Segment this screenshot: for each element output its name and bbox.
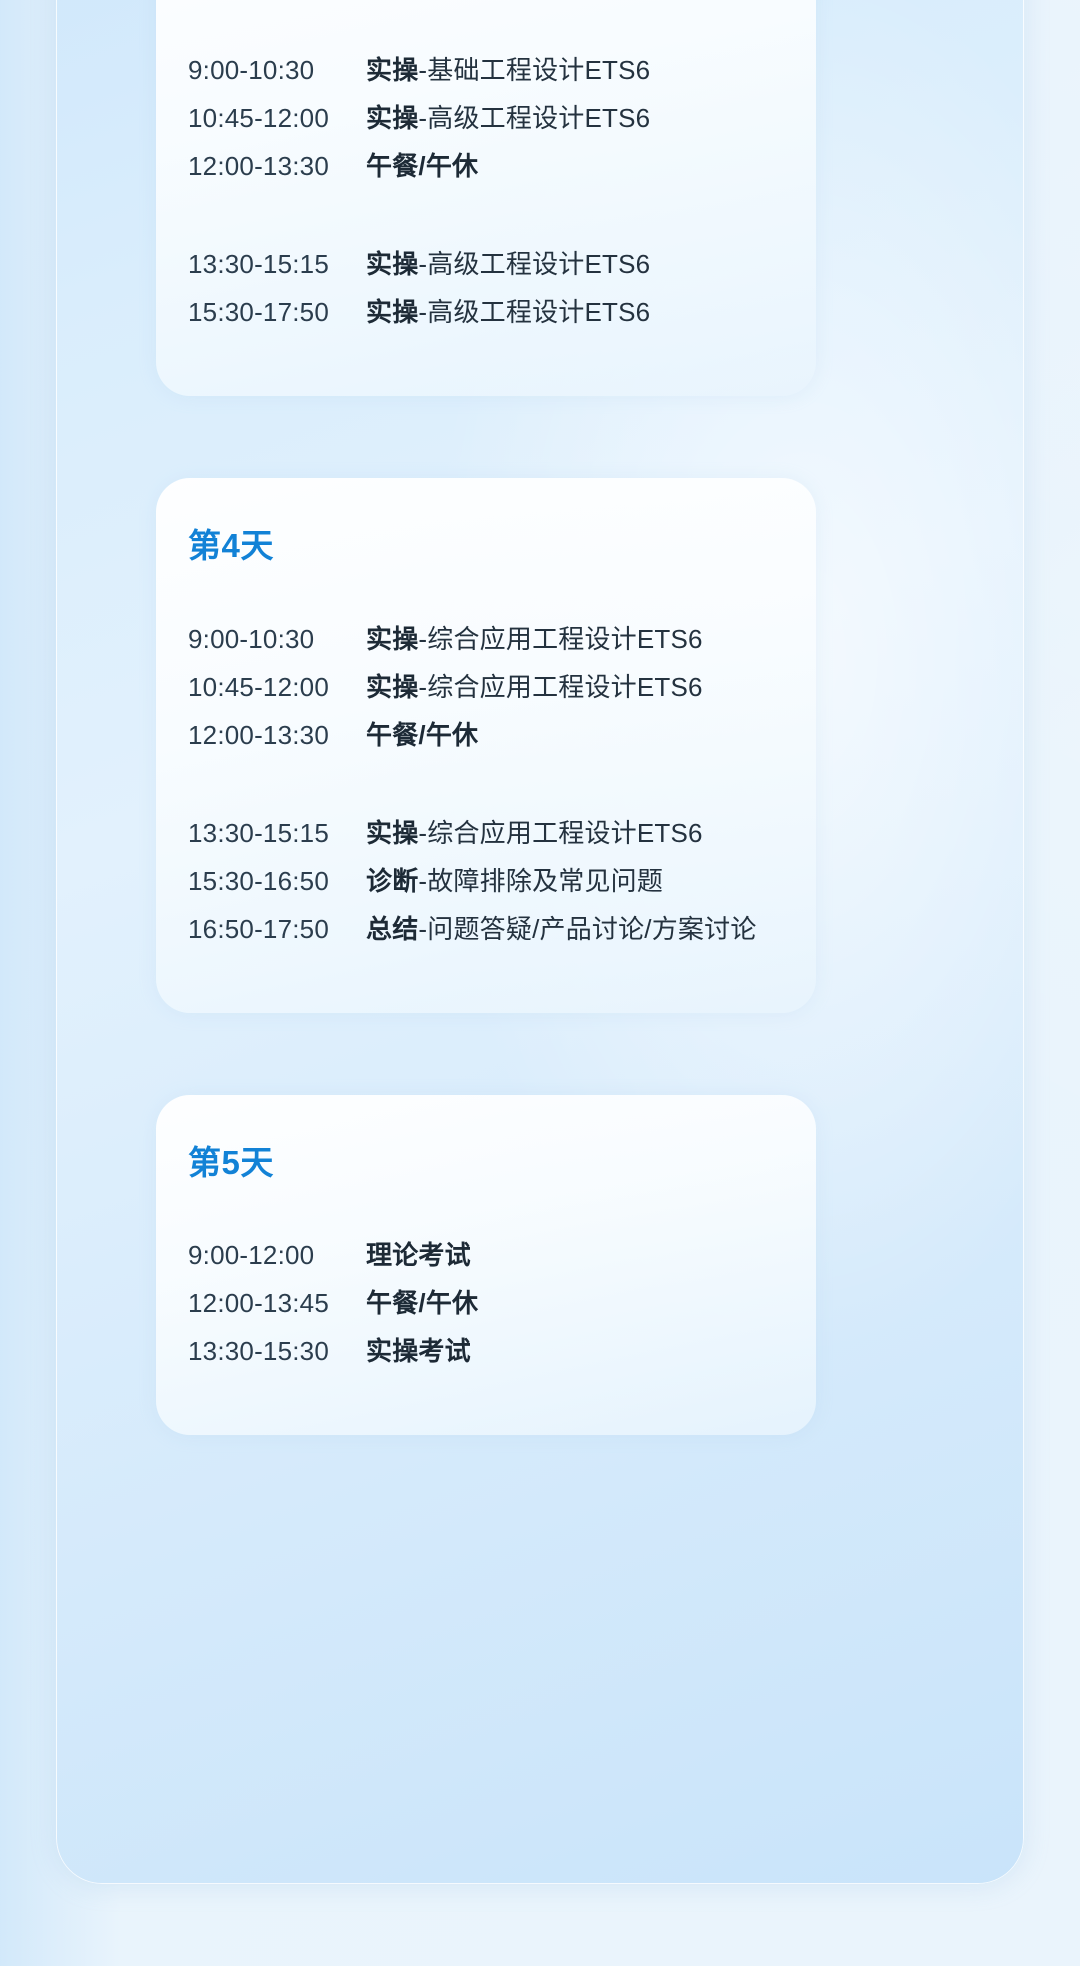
schedule-row-time: 10:45-12:00 <box>188 103 366 134</box>
schedule-row: 10:45-12:00实操-综合应用工程设计ETS6 <box>188 667 768 715</box>
day-cards-container: 第3天9:00-10:30实操-基础工程设计ETS610:45-12:00实操-… <box>156 0 816 1435</box>
schedule-row-topic-separator: - <box>418 249 427 279</box>
day-card: 第5天9:00-12:00理论考试12:00-13:45午餐/午休13:30-1… <box>156 1095 816 1435</box>
schedule-row-topic-prefix: 实操 <box>366 297 418 327</box>
schedule-row-topic: 实操-高级工程设计ETS6 <box>366 98 650 135</box>
schedule-row-time: 9:00-10:30 <box>188 55 366 86</box>
schedule-row-topic: 午餐/午休 <box>366 1283 478 1320</box>
schedule-row-topic-detail: 基础工程设计ETS6 <box>427 55 650 85</box>
schedule-row-topic: 理论考试 <box>366 1235 471 1272</box>
schedule-row-topic-separator: - <box>418 866 427 896</box>
schedule-row-topic: 实操-综合应用工程设计ETS6 <box>366 667 703 704</box>
schedule-row-topic-detail: 问题答疑/产品讨论/方案讨论 <box>427 914 756 944</box>
schedule-row-topic: 实操-基础工程设计ETS6 <box>366 50 650 87</box>
schedule-row: 13:30-15:15实操-高级工程设计ETS6 <box>188 244 768 292</box>
schedule-row-time: 9:00-10:30 <box>188 624 366 655</box>
schedule-row-topic-separator: - <box>418 818 427 848</box>
schedule-row-topic-prefix: 午餐/午休 <box>366 1288 478 1318</box>
schedule-row: 12:00-13:30午餐/午休 <box>188 146 768 194</box>
row-spacer <box>188 763 768 813</box>
schedule-row: 12:00-13:45午餐/午休 <box>188 1283 768 1331</box>
schedule-row-topic-separator: - <box>418 55 427 85</box>
schedule-row-topic-detail: 高级工程设计ETS6 <box>427 103 650 133</box>
row-spacer <box>188 194 768 244</box>
schedule-row-topic: 诊断-故障排除及常见问题 <box>366 861 663 898</box>
schedule-row-topic-separator: - <box>418 297 427 327</box>
schedule-row: 16:50-17:50总结-问题答疑/产品讨论/方案讨论 <box>188 909 768 957</box>
schedule-rows: 9:00-12:00理论考试12:00-13:45午餐/午休13:30-15:3… <box>188 1235 768 1379</box>
schedule-row-topic: 午餐/午休 <box>366 146 478 183</box>
schedule-row-time: 16:50-17:50 <box>188 914 366 945</box>
schedule-row: 13:30-15:30实操考试 <box>188 1331 768 1379</box>
schedule-row-time: 13:30-15:15 <box>188 249 366 280</box>
schedule-row: 15:30-17:50实操-高级工程设计ETS6 <box>188 292 768 340</box>
day-card: 第3天9:00-10:30实操-基础工程设计ETS610:45-12:00实操-… <box>156 0 816 396</box>
day-card: 第4天9:00-10:30实操-综合应用工程设计ETS610:45-12:00实… <box>156 478 816 1012</box>
schedule-row-topic-prefix: 实操 <box>366 103 418 133</box>
schedule-row: 9:00-10:30实操-基础工程设计ETS6 <box>188 50 768 98</box>
schedule-row-topic-prefix: 实操 <box>366 249 418 279</box>
schedule-row-topic-prefix: 实操 <box>366 818 418 848</box>
schedule-row-topic-detail: 综合应用工程设计ETS6 <box>427 818 702 848</box>
schedule-rows: 9:00-10:30实操-基础工程设计ETS610:45-12:00实操-高级工… <box>188 50 768 340</box>
schedule-row: 12:00-13:30午餐/午休 <box>188 715 768 763</box>
schedule-row-topic-detail: 故障排除及常见问题 <box>427 866 663 896</box>
schedule-row-topic-separator: - <box>418 103 427 133</box>
schedule-panel: 第3天9:00-10:30实操-基础工程设计ETS610:45-12:00实操-… <box>56 0 1024 1884</box>
schedule-row-time: 12:00-13:30 <box>188 151 366 182</box>
schedule-row-topic-prefix: 总结 <box>366 914 418 944</box>
schedule-row: 10:45-12:00实操-高级工程设计ETS6 <box>188 98 768 146</box>
schedule-row-time: 12:00-13:30 <box>188 720 366 751</box>
page-root: 第3天9:00-10:30实操-基础工程设计ETS610:45-12:00实操-… <box>0 0 1080 1966</box>
schedule-row-topic-detail: 高级工程设计ETS6 <box>427 249 650 279</box>
schedule-row-time: 15:30-17:50 <box>188 297 366 328</box>
schedule-row: 9:00-12:00理论考试 <box>188 1235 768 1283</box>
schedule-row-time: 13:30-15:15 <box>188 818 366 849</box>
schedule-row-topic-prefix: 实操 <box>366 624 418 654</box>
schedule-row-time: 13:30-15:30 <box>188 1336 366 1367</box>
schedule-row-topic: 实操-综合应用工程设计ETS6 <box>366 619 703 656</box>
day-title: 第5天 <box>188 1145 768 1181</box>
schedule-rows: 9:00-10:30实操-综合应用工程设计ETS610:45-12:00实操-综… <box>188 619 768 957</box>
schedule-row-topic-detail: 综合应用工程设计ETS6 <box>427 624 702 654</box>
schedule-row-topic-detail: 高级工程设计ETS6 <box>427 297 650 327</box>
schedule-row-time: 15:30-16:50 <box>188 866 366 897</box>
schedule-row-topic-prefix: 诊断 <box>366 866 418 896</box>
schedule-row-topic-prefix: 午餐/午休 <box>366 720 478 750</box>
schedule-row: 15:30-16:50诊断-故障排除及常见问题 <box>188 861 768 909</box>
schedule-row-topic-prefix: 理论考试 <box>366 1240 471 1270</box>
day-title: 第4天 <box>188 528 768 564</box>
schedule-row-time: 10:45-12:00 <box>188 672 366 703</box>
schedule-row-topic-separator: - <box>418 624 427 654</box>
schedule-row-topic: 实操-高级工程设计ETS6 <box>366 292 650 329</box>
schedule-row-topic-prefix: 实操考试 <box>366 1336 471 1366</box>
schedule-row: 9:00-10:30实操-综合应用工程设计ETS6 <box>188 619 768 667</box>
schedule-row-topic: 实操-高级工程设计ETS6 <box>366 244 650 281</box>
schedule-row-topic-separator: - <box>418 914 427 944</box>
schedule-row-topic-prefix: 实操 <box>366 55 418 85</box>
schedule-row-topic: 午餐/午休 <box>366 715 478 752</box>
schedule-row-topic-separator: - <box>418 672 427 702</box>
schedule-row-topic-detail: 综合应用工程设计ETS6 <box>427 672 702 702</box>
schedule-row-topic: 总结-问题答疑/产品讨论/方案讨论 <box>366 909 757 946</box>
schedule-row-time: 9:00-12:00 <box>188 1240 366 1271</box>
schedule-row-topic-prefix: 实操 <box>366 672 418 702</box>
schedule-row-time: 12:00-13:45 <box>188 1288 366 1319</box>
schedule-row: 13:30-15:15实操-综合应用工程设计ETS6 <box>188 813 768 861</box>
schedule-row-topic: 实操考试 <box>366 1331 471 1368</box>
schedule-row-topic-prefix: 午餐/午休 <box>366 151 478 181</box>
schedule-row-topic: 实操-综合应用工程设计ETS6 <box>366 813 703 850</box>
